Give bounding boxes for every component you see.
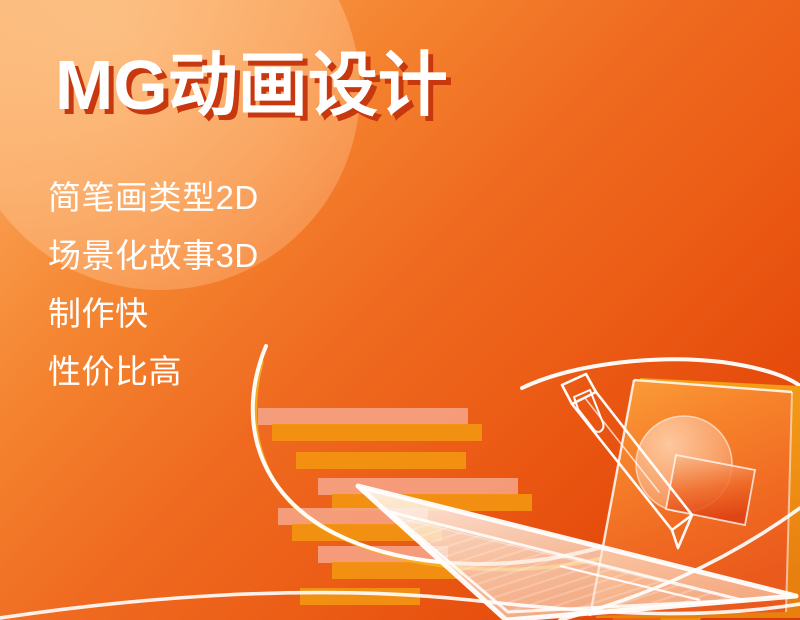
triangle-ruler <box>358 486 796 620</box>
feature-list: 简笔画类型2D 场景化故事3D 制作快 性价比高 <box>48 180 259 391</box>
motion-bar <box>318 546 448 563</box>
motion-bar <box>318 478 518 495</box>
circle-shape <box>636 416 732 512</box>
motion-bar <box>292 524 442 541</box>
canvas-sheet <box>590 378 800 618</box>
swoosh-curve-white-left <box>253 346 800 564</box>
feature-item-2: 场景化故事3D <box>48 238 259 275</box>
motion-bar <box>332 494 532 511</box>
feature-item-1: 简笔画类型2D <box>48 180 259 217</box>
swoosh-curve-white-lower-right <box>560 508 800 620</box>
page-title: MG动画设计 <box>55 48 448 124</box>
motion-bar <box>258 408 468 425</box>
motion-bar <box>332 562 462 579</box>
swoosh-curve-white-top <box>522 359 800 388</box>
pencil <box>562 374 692 548</box>
promo-banner: MG动画设计 简笔画类型2D 场景化故事3D 制作快 性价比高 <box>0 0 800 620</box>
corner-ribbon-shapes <box>560 400 800 620</box>
motion-bars <box>258 408 532 605</box>
feature-item-4: 性价比高 <box>48 354 259 391</box>
feature-item-3: 制作快 <box>48 296 259 333</box>
motion-bar <box>272 424 482 441</box>
motion-bar <box>300 588 420 605</box>
swoosh-curve-white-bottom <box>0 593 800 618</box>
motion-bar <box>296 452 466 469</box>
motion-bar <box>278 508 428 525</box>
swoosh-curve-amber <box>255 362 610 570</box>
rectangle-shape <box>666 455 755 525</box>
